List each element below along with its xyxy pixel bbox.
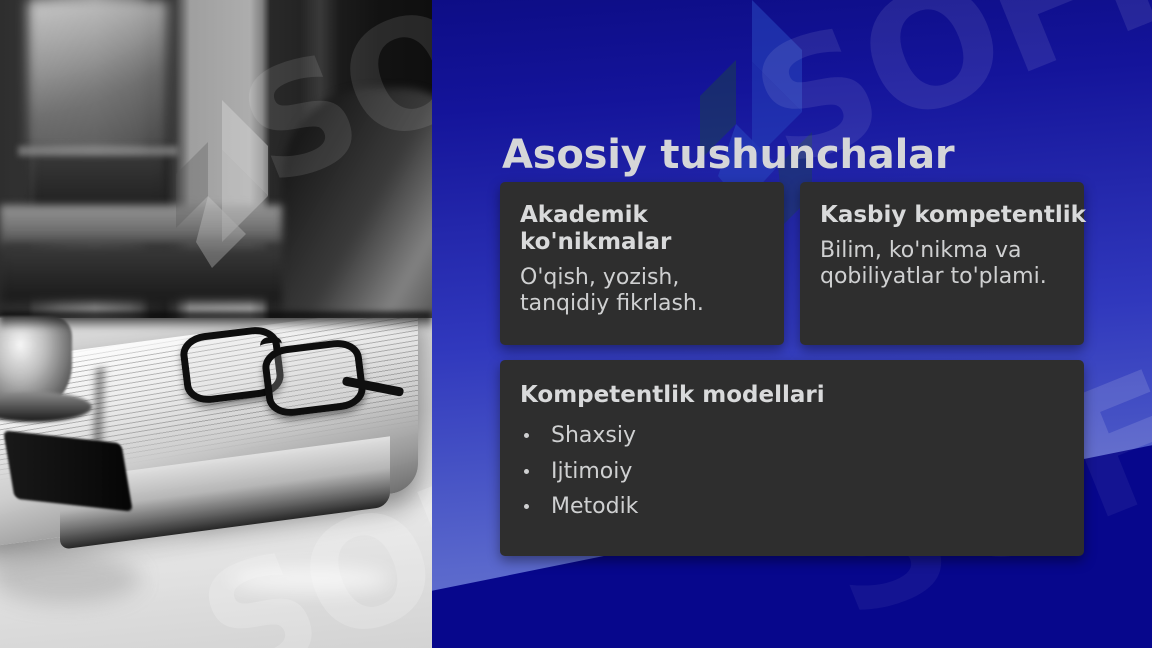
marble-shade [0, 554, 140, 604]
eyeglasses [182, 326, 392, 410]
eyeglass-bridge [259, 336, 283, 353]
list-item: Ijtimoiy [520, 454, 1064, 490]
slide-title: Asosiy tushunchalar [502, 132, 954, 178]
card-body: O'qish, yozish, tanqidiy fikrlash. [520, 265, 764, 317]
marble-vein [230, 566, 390, 592]
card-title: Kasbiy kompetentlik [820, 202, 1064, 229]
window-sill-shadow [0, 243, 330, 303]
card-title: Akademik ko'nikmalar [520, 202, 764, 256]
book-spine-ribbon [3, 430, 133, 511]
card-title: Kompetentlik modellari [520, 382, 1064, 409]
window-glass-upper [28, 0, 168, 150]
concept-card-kasbiy-kompetentlik[interactable]: Kasbiy kompetentlik Bilim, ko'nikma va q… [800, 182, 1084, 345]
window-mullion [18, 146, 178, 156]
window-sill [0, 205, 300, 247]
concept-card-kompetentlik-modellari[interactable]: Kompetentlik modellari Shaxsiy Ijtimoiy … [500, 360, 1084, 556]
presentation-slide: SOFF SOFF SOFF SOFF SOFF Asosiy tushunch… [0, 0, 1152, 648]
slide-photo: SOFF SOFF [0, 0, 432, 648]
list-item: Shaxsiy [520, 418, 1064, 454]
card-body: Bilim, ko'nikma va qobiliyatlar to'plami… [820, 238, 1064, 290]
photo-window-scene [0, 0, 432, 340]
photo-depth-seam [0, 312, 432, 330]
card-bullet-list: Shaxsiy Ijtimoiy Metodik [520, 418, 1064, 525]
list-item: Metodik [520, 489, 1064, 525]
concept-card-akademik-konikmalar[interactable]: Akademik ko'nikmalar O'qish, yozish, tan… [500, 182, 784, 345]
